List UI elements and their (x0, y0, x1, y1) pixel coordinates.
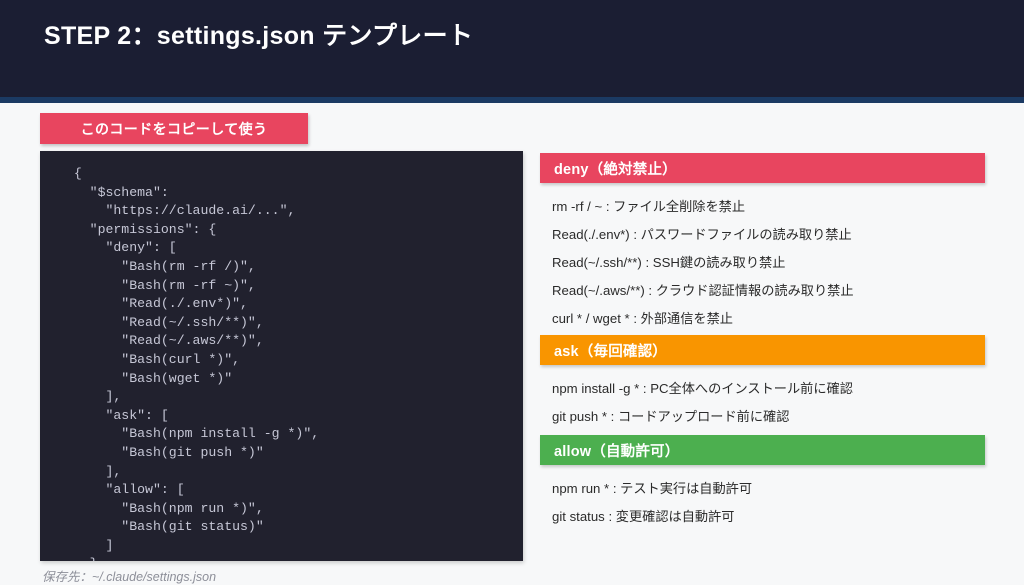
copy-code-ribbon: このコードをコピーして使う (40, 113, 308, 144)
title-accent-strip (0, 97, 1024, 103)
panel-ask-header: ask（毎回確認） (540, 335, 985, 365)
list-item: git push * : コードアップロード前に確認 (540, 402, 985, 430)
panel-deny: deny（絶対禁止）rm -rf / ~ : ファイル全削除を禁止Read(./… (540, 153, 985, 332)
page-title: STEP 2：settings.json テンプレート (44, 16, 473, 52)
code-block-caption: 保存先：~/.claude/settings.json (42, 566, 216, 585)
copy-code-ribbon-label: このコードをコピーして使う (81, 119, 268, 139)
panel-deny-header: deny（絶対禁止） (540, 153, 985, 183)
list-item: Read(~/.ssh/**) : SSH鍵の読み取り禁止 (540, 248, 985, 276)
list-item: Read(~/.aws/**) : クラウド認証情報の読み取り禁止 (540, 276, 985, 304)
panel-ask-items: npm install -g * : PC全体へのインストール前に確認git p… (540, 365, 985, 430)
panel-ask: ask（毎回確認）npm install -g * : PC全体へのインストール… (540, 335, 985, 430)
list-item: rm -rf / ~ : ファイル全削除を禁止 (540, 192, 985, 220)
panel-deny-items: rm -rf / ~ : ファイル全削除を禁止Read(./.env*) : パ… (540, 183, 985, 332)
panel-allow: allow（自動許可）npm run * : テスト実行は自動許可git sta… (540, 435, 985, 530)
list-item: curl * / wget * : 外部通信を禁止 (540, 304, 985, 332)
code-block[interactable]: { "$schema": "https://claude.ai/...", "p… (40, 151, 523, 561)
list-item: git status : 変更確認は自動許可 (540, 502, 985, 530)
list-item: npm run * : テスト実行は自動許可 (540, 474, 985, 502)
title-bar: STEP 2：settings.json テンプレート (0, 0, 1024, 97)
list-item: npm install -g * : PC全体へのインストール前に確認 (540, 374, 985, 402)
panel-allow-header: allow（自動許可） (540, 435, 985, 465)
code-block-content: { "$schema": "https://claude.ai/...", "p… (40, 165, 523, 561)
list-item: Read(./.env*) : パスワードファイルの読み取り禁止 (540, 220, 985, 248)
panel-allow-items: npm run * : テスト実行は自動許可git status : 変更確認は… (540, 465, 985, 530)
